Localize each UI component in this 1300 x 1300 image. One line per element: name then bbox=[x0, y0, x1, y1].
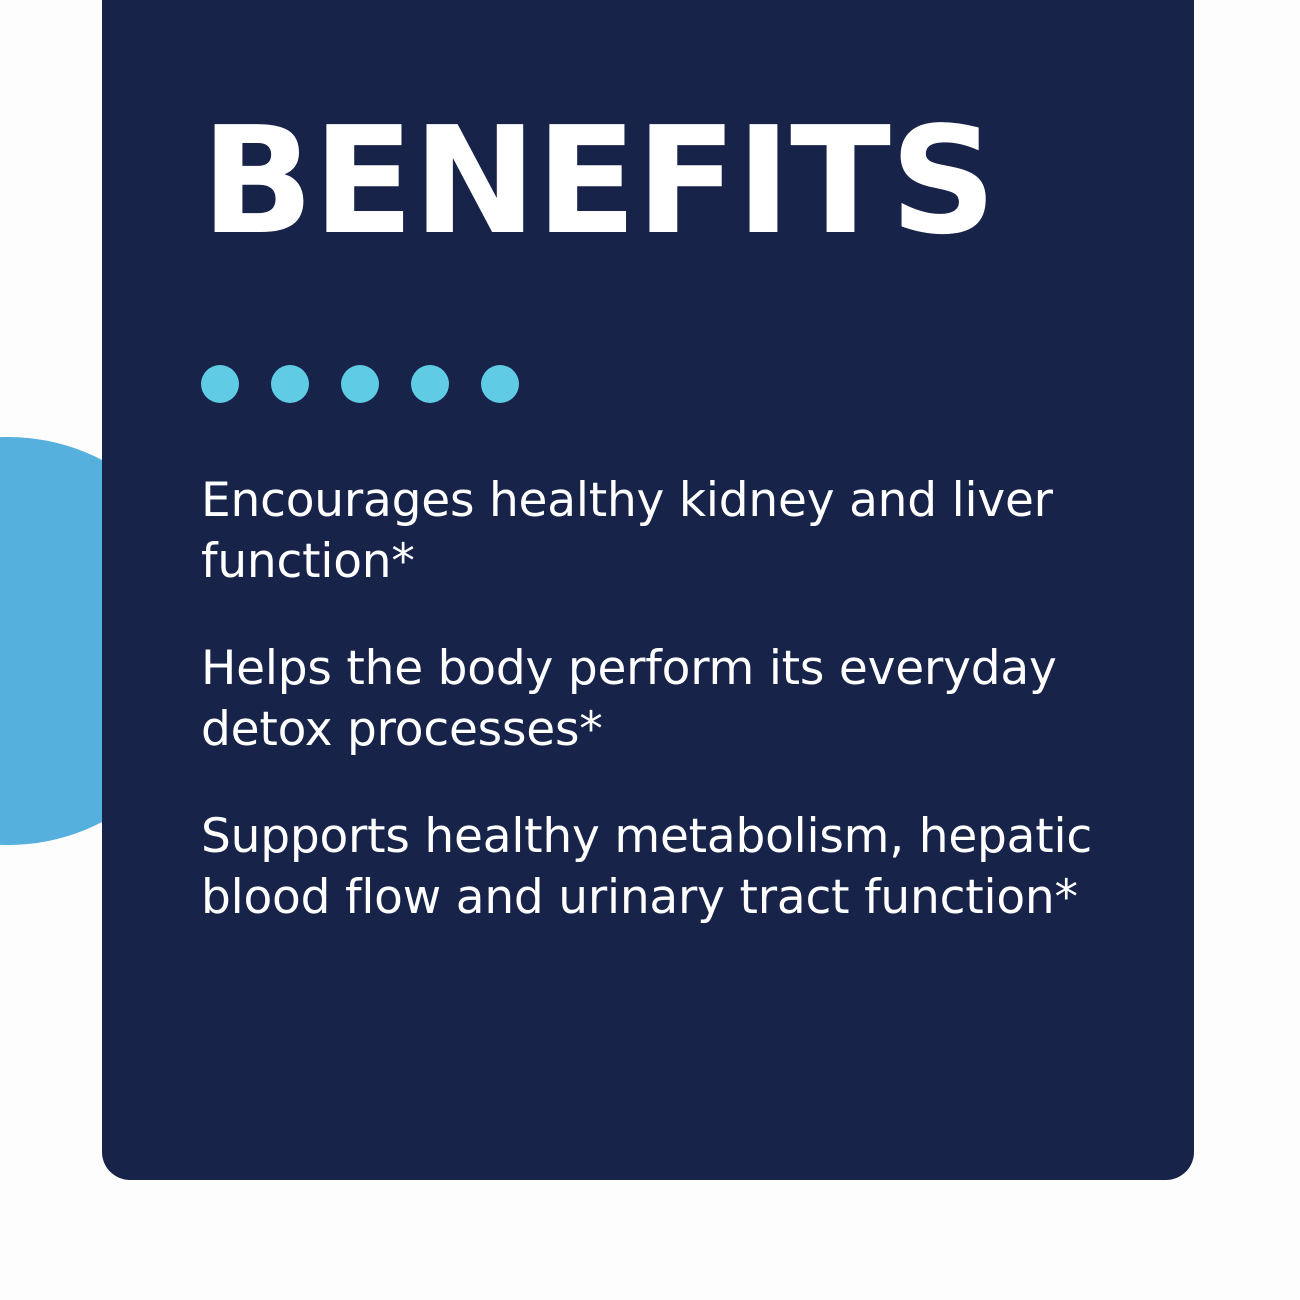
divider-dot-icon bbox=[411, 365, 449, 403]
list-item: Supports healthy metabolism, hepatic blo… bbox=[201, 806, 1161, 928]
divider-dot-icon bbox=[201, 365, 239, 403]
page-title: BENEFITS bbox=[201, 107, 996, 255]
divider-dot-icon bbox=[481, 365, 519, 403]
benefits-card: BENEFITS Encourages healthy kidney and l… bbox=[102, 0, 1194, 1180]
benefits-list: Encourages healthy kidney and liver func… bbox=[201, 470, 1161, 929]
list-item: Helps the body perform its everyday deto… bbox=[201, 638, 1161, 760]
divider-dot-icon bbox=[271, 365, 309, 403]
benefits-card-content: BENEFITS Encourages healthy kidney and l… bbox=[201, 0, 1194, 1180]
dot-divider bbox=[201, 365, 519, 403]
benefits-graphic: BENEFITS Encourages healthy kidney and l… bbox=[0, 0, 1300, 1300]
list-item: Encourages healthy kidney and liver func… bbox=[201, 470, 1161, 592]
divider-dot-icon bbox=[341, 365, 379, 403]
